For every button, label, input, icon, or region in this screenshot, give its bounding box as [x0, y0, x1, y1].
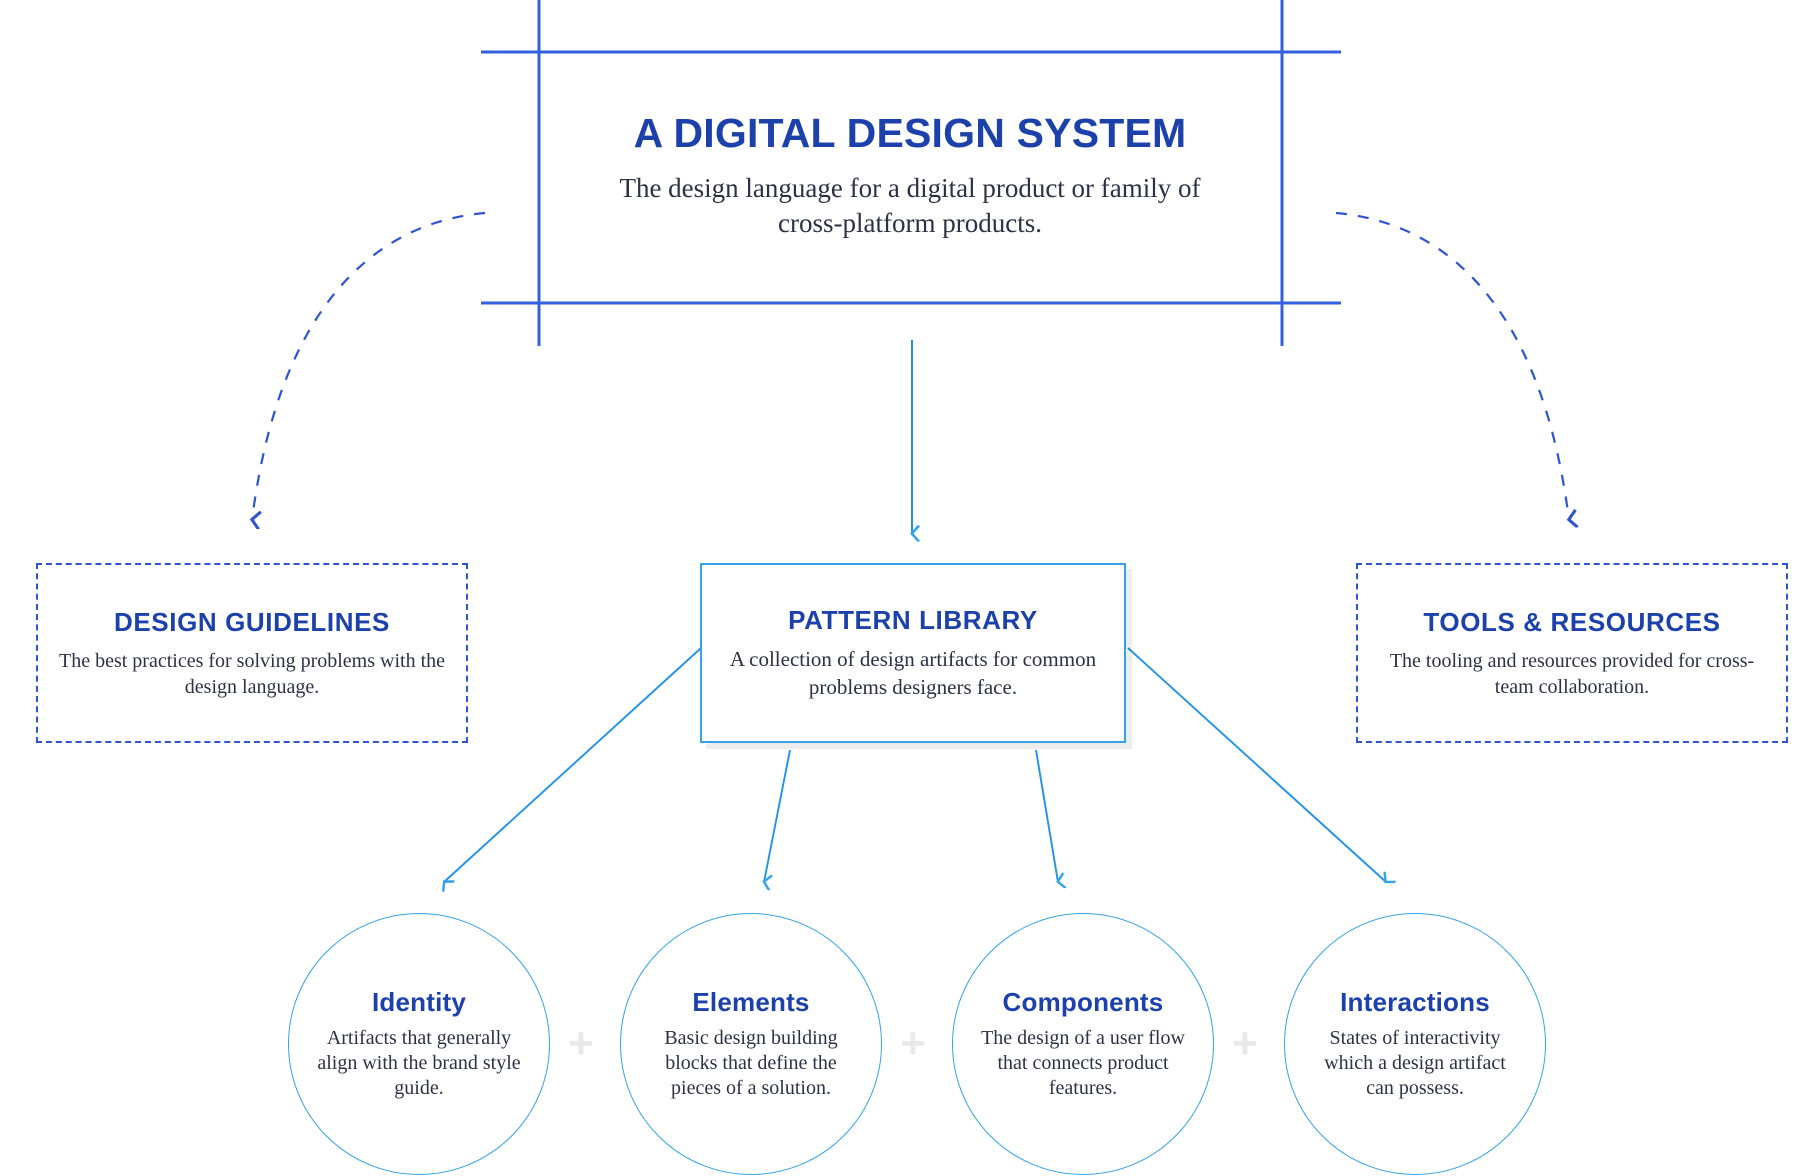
arrow-pattern-library-to-identity: [444, 648, 701, 882]
page-title: A DIGITAL DESIGN SYSTEM: [634, 110, 1187, 157]
pattern-part-title-elements: Elements: [692, 987, 809, 1018]
page-subtitle: The design language for a digital produc…: [610, 171, 1210, 240]
arrow-header-to-tools-resources: [1336, 213, 1569, 520]
pillar-card-tools-resources[interactable]: TOOLS & RESOURCES The tooling and resour…: [1356, 563, 1788, 743]
pattern-part-identity[interactable]: Identity Artifacts that generally align …: [288, 913, 550, 1175]
arrow-pattern-library-to-elements: [764, 750, 790, 882]
pillar-title-tools-resources: TOOLS & RESOURCES: [1423, 607, 1720, 638]
plus-separator-icon: +: [1225, 1024, 1265, 1064]
pillar-description-pattern-library: A collection of design artifacts for com…: [719, 646, 1107, 701]
arrow-header-to-design-guidelines: [252, 213, 485, 520]
pattern-part-title-interactions: Interactions: [1340, 987, 1490, 1018]
pillar-title-design-guidelines: DESIGN GUIDELINES: [114, 607, 390, 638]
pattern-part-description-elements: Basic design building blocks that define…: [647, 1026, 855, 1101]
pillar-description-tools-resources: The tooling and resources provided for c…: [1375, 648, 1769, 700]
arrow-pattern-library-to-interactions: [1128, 648, 1386, 882]
pattern-part-title-components: Components: [1003, 987, 1164, 1018]
pattern-part-components[interactable]: Components The design of a user flow tha…: [952, 913, 1214, 1175]
pillar-card-pattern-library[interactable]: PATTERN LIBRARY A collection of design a…: [700, 563, 1126, 743]
pattern-part-description-identity: Artifacts that generally align with the …: [315, 1026, 523, 1101]
pattern-part-description-components: The design of a user flow that connects …: [979, 1026, 1187, 1101]
arrow-pattern-library-to-components: [1036, 750, 1058, 882]
design-system-header: A DIGITAL DESIGN SYSTEM The design langu…: [485, 40, 1335, 310]
pattern-part-title-identity: Identity: [372, 987, 466, 1018]
pattern-part-description-interactions: States of interactivity which a design a…: [1311, 1026, 1519, 1101]
pillar-card-design-guidelines[interactable]: DESIGN GUIDELINES The best practices for…: [36, 563, 468, 743]
pattern-part-elements[interactable]: Elements Basic design building blocks th…: [620, 913, 882, 1175]
pillar-description-design-guidelines: The best practices for solving problems …: [55, 648, 449, 700]
pillar-title-pattern-library: PATTERN LIBRARY: [788, 605, 1038, 636]
pattern-part-interactions[interactable]: Interactions States of interactivity whi…: [1284, 913, 1546, 1175]
plus-separator-icon: +: [561, 1024, 601, 1064]
plus-separator-icon: +: [893, 1024, 933, 1064]
diagram-canvas: A DIGITAL DESIGN SYSTEM The design langu…: [0, 0, 1818, 1176]
